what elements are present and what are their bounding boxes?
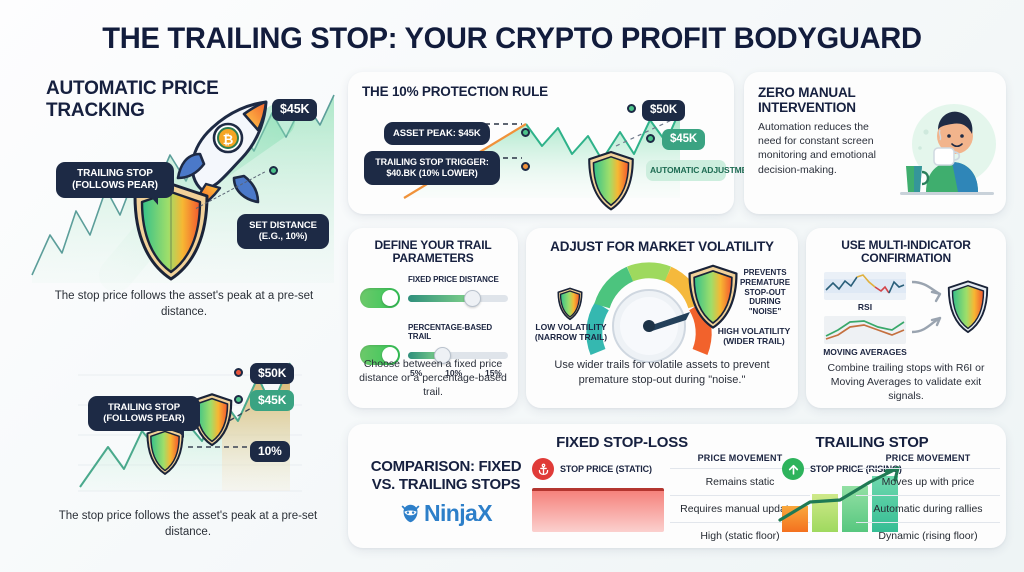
callout-trailing-stop-bottom: TRAILING STOP (FOLLOWS PEAR): [88, 396, 200, 431]
fixed-stop-loss-chart: [532, 488, 664, 532]
panel-title-protection-rule: THE 10% PROTECTION RULE: [362, 84, 548, 99]
ninja-mask-icon: [400, 503, 421, 524]
panel-title-zero-manual: ZERO MANUAL INTERVENTION: [758, 85, 888, 115]
page-title: THE TRAILING STOP: YOUR CRYPTO PROFIT BO…: [15, 22, 1008, 56]
shield-icon-protection: [585, 149, 637, 213]
badge-45k-top: $45K: [272, 99, 317, 121]
label-low-volatility: LOW VOLATILITY (NARROW TRAIL): [532, 322, 610, 342]
caption-bottom-left: The stop price follows the asset's peak …: [52, 508, 324, 541]
comparison-table-trailing: PRICE MOVEMENT Moves up with price Autom…: [856, 448, 1000, 549]
shield-icon-multi-indicator: [945, 278, 991, 336]
rsi-chart: [824, 272, 906, 300]
label-moving-averages: MOVING AVERAGES: [816, 347, 914, 357]
panel-title-trail-parameters: DEFINE YOUR TRAIL PARAMETERS: [358, 239, 508, 266]
callout-trailing-stop-trigger: TRAILING STOP TRIGGER: $40.BK (10% LOWER…: [364, 151, 500, 185]
badge-50k-protection: $50K: [642, 100, 685, 121]
person-drinking-coffee-illustration: [892, 92, 1000, 204]
ninjax-logo: NinjaX: [362, 500, 530, 527]
fixed-stop-price-legend: STOP PRICE (STATIC): [532, 458, 666, 480]
comparison-cell-trailing-3: Dynamic (rising floor): [856, 522, 1000, 549]
badge-45k-bottom: $45K: [250, 390, 294, 411]
price-point-45k: [234, 395, 243, 404]
panel-market-volatility: ADJUST FOR MARKET VOLATILITY LOW VOLATIL…: [526, 228, 798, 408]
label-prevents-premature-stopout: PREVENTS PREMATURE STOP-OUT DURING "NOIS…: [734, 268, 796, 317]
trigger-marker: [521, 162, 530, 171]
label-stop-price-static: STOP PRICE (STATIC): [560, 464, 652, 475]
infographic-root: THE TRAILING STOP: YOUR CRYPTO PROFIT BO…: [0, 0, 1024, 572]
price-point-50k: [234, 368, 243, 377]
trail-param-row-fixed[interactable]: FIXED PRICE DISTANCE: [360, 275, 508, 308]
price-point-marker-top: [269, 166, 278, 175]
panel-title-market-volatility: ADJUST FOR MARKET VOLATILITY: [536, 239, 788, 254]
label-percentage-based-trail: PERCENTAGE-BASED TRAIL: [408, 323, 508, 341]
anchor-icon: [532, 458, 554, 480]
shield-icon-high-volatility: [685, 262, 741, 332]
panel-trail-parameters: DEFINE YOUR TRAIL PARAMETERS FIXED PRICE…: [348, 228, 518, 408]
label-fixed-price-distance: FIXED PRICE DISTANCE: [408, 275, 508, 284]
panel-protection-rule: THE 10% PROTECTION RULE ASSET PEAK: $45K: [348, 72, 734, 214]
callout-trailing-stop-top: TRAILING STOP (FOLLOWS PEAR): [56, 162, 174, 198]
label-high-volatility: HIGH VOLATILITY (WIDER TRAIL): [711, 326, 797, 346]
callout-asset-peak: ASSET PEAK: $45K: [384, 122, 490, 145]
marker-50k: [627, 104, 636, 113]
panel-multi-indicator: USE MULTI-INDICATOR CONFIRMATION RSI MOV…: [806, 228, 1006, 408]
callout-automatic-adjustment: AUTOMATIC ADJUSTMENT!: [646, 160, 726, 181]
shield-icon-low-volatility: [556, 286, 584, 322]
badge-10pct: 10%: [250, 441, 290, 462]
panel-title-multi-indicator: USE MULTI-INDICATOR CONFIRMATION: [814, 239, 998, 266]
slider-fixed-price-distance[interactable]: [408, 295, 508, 302]
callout-set-distance: SET DISTANCE (E.G., 10%): [237, 214, 329, 249]
comparison-cell-trailing-1: Moves up with price: [856, 468, 1000, 495]
ninjax-wordmark: NinjaX: [424, 500, 492, 527]
moving-averages-chart: [824, 316, 906, 344]
panel-zero-manual-intervention: ZERO MANUAL INTERVENTION Automation redu…: [744, 72, 1006, 214]
panel-body-trail-parameters: Choose between a fixed price distance or…: [358, 358, 508, 400]
panel-comparison: COMPARISON: FIXED VS. TRAILING STOPS Nin…: [348, 424, 1006, 548]
toggle-fixed-price-distance[interactable]: [360, 288, 400, 308]
caption-top-left: The stop price follows the asset's peak …: [38, 288, 330, 321]
panel-body-zero-manual: Automation reduces the need for constant…: [758, 120, 894, 177]
comparison-header-trailing: PRICE MOVEMENT: [856, 448, 1000, 468]
badge-50k-bottom: $50K: [250, 363, 294, 384]
label-rsi: RSI: [824, 302, 906, 312]
comparison-cell-trailing-2: Automatic during rallies: [856, 495, 1000, 522]
marker-45k: [646, 134, 655, 143]
asset-peak-marker: [521, 128, 530, 137]
comparison-title: COMPARISON: FIXED VS. TRAILING STOPS: [362, 458, 530, 494]
panel-body-market-volatility: Use wider trails for volatile assets to …: [544, 358, 780, 387]
svg-text:₿: ₿: [223, 133, 234, 148]
badge-45k-protection: $45K: [662, 129, 705, 150]
arrow-icons-to-shield: [910, 278, 946, 338]
panel-body-multi-indicator: Combine trailing stops with R6I or Movin…: [816, 362, 996, 404]
